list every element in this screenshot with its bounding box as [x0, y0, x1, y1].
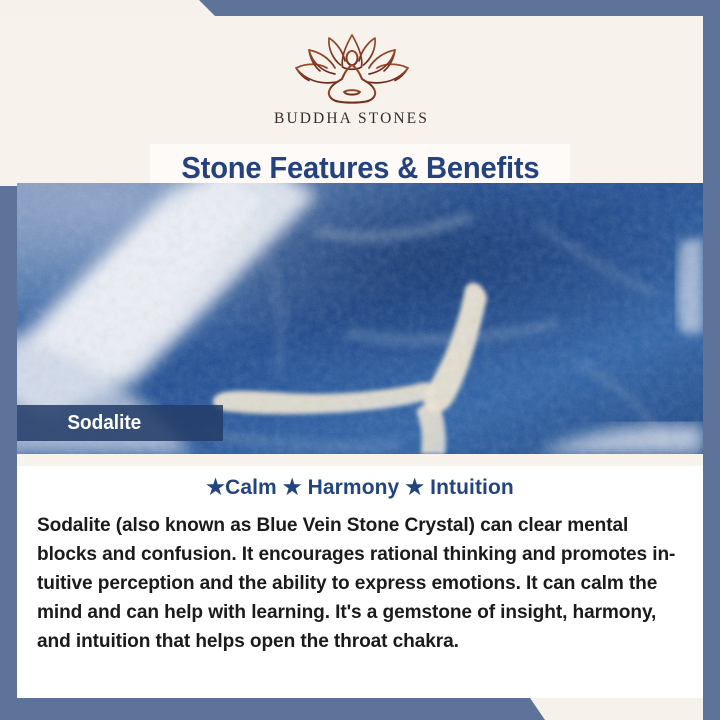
infographic-page: BUDDHA STONES Stone Features & Benefits — [0, 0, 720, 720]
decor-band-top — [0, 0, 720, 16]
stone-description: Sodalite (also known as Blue Vein Stone … — [37, 511, 679, 656]
decor-band-left — [0, 186, 17, 720]
content-card: ★Calm ★ Harmony ★ Intuition Sodalite (al… — [17, 454, 703, 698]
card-top-strip — [17, 454, 703, 466]
decor-band-bottom — [0, 698, 720, 720]
page-title: Stone Features & Benefits — [181, 150, 539, 186]
stone-name-badge: Sodalite — [17, 405, 223, 441]
stone-name: Sodalite — [17, 412, 141, 435]
header: BUDDHA STONES Stone Features & Benefits — [0, 16, 703, 183]
decor-band-right — [703, 0, 720, 720]
lotus-meditation-icon — [277, 30, 427, 106]
benefit-keywords: ★Calm ★ Harmony ★ Intuition — [17, 475, 703, 500]
brand-wordmark: BUDDHA STONES — [274, 110, 429, 128]
brand-logo: BUDDHA STONES — [0, 30, 703, 128]
